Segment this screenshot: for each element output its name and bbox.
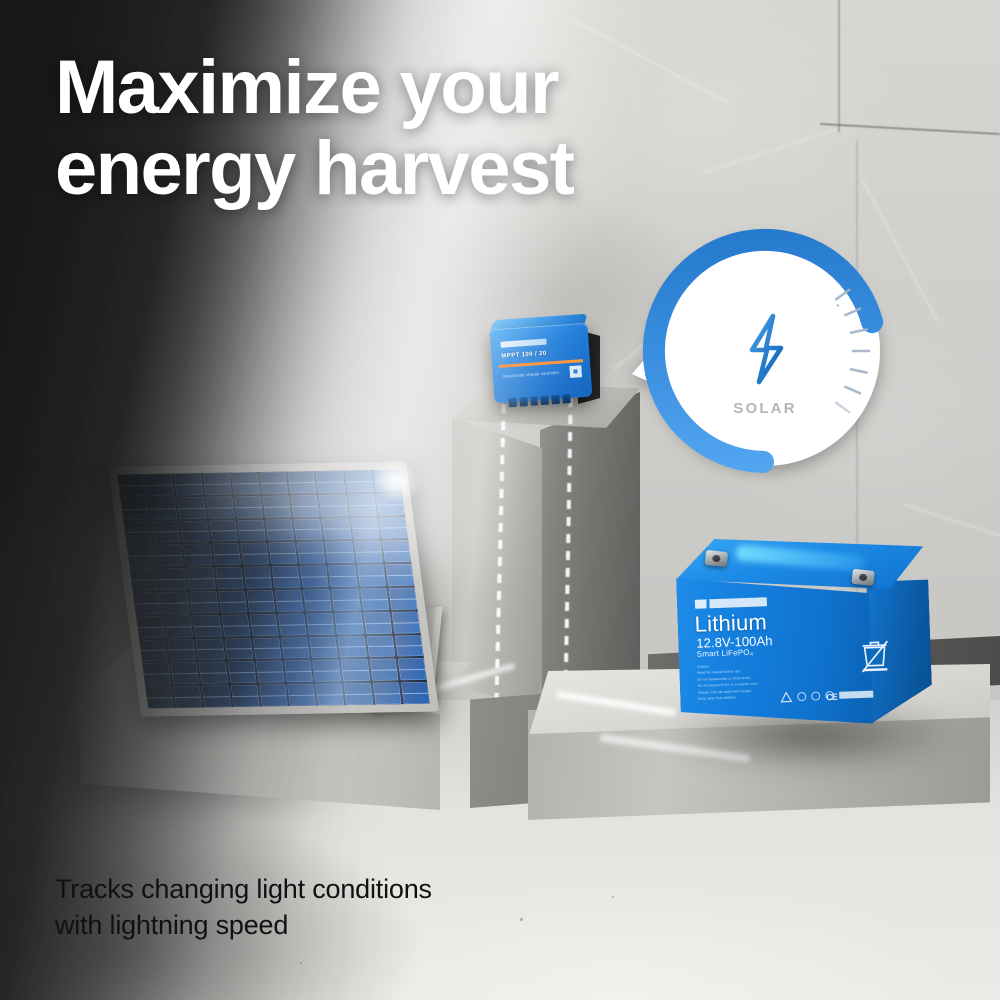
headline-line-1: Maximize your [55,48,705,129]
battery-caution-text: Caution Read the manual before use. Do n… [697,661,786,702]
mppt-body: MPPT 100 / 20 SmartSolar charge controll… [490,323,593,404]
battery-terminal-positive [851,569,874,586]
label-bar [839,691,873,699]
symbol-icon [811,691,820,700]
battery-title: Lithium [694,611,767,636]
promo-image: MPPT 100 / 20 SmartSolar charge controll… [0,0,1000,1000]
solar-cell [401,682,430,704]
battery-top-highlight [735,544,866,571]
warning-triangle-icon [780,691,792,702]
weee-bin-icon [858,637,891,674]
battery-terminal-negative [705,550,728,567]
page-title: Maximize your energy harvest [55,48,705,209]
solar-cell [398,658,427,680]
mppt-model-label: MPPT 100 / 20 [501,351,547,360]
headline-line-2: energy harvest [55,129,705,210]
qr-code-icon [569,365,582,378]
solar-cell [394,635,423,657]
gauge-label: SOLAR [646,400,884,417]
mppt-charge-controller: MPPT 100 / 20 SmartSolar charge controll… [490,323,593,404]
ce-mark-icon: CE [825,691,834,700]
caption-text: Tracks changing light conditions with li… [55,872,615,944]
pedestal-tall-side [540,392,640,710]
symbol-icon [797,692,806,701]
solar-cell [391,611,420,633]
solar-gauge-badge[interactable]: SOLAR [646,232,884,470]
caption-line-2: with lightning speed [55,908,615,944]
gauge-graphic [646,232,884,470]
mppt-subtitle: SmartSolar charge controller [503,370,560,379]
caption-line-1: Tracks changing light conditions [55,872,615,908]
victron-logo-icon [500,339,546,348]
lithium-battery: Lithium 12.8V-100Ah Smart LiFePO₄ Cautio… [669,531,938,732]
